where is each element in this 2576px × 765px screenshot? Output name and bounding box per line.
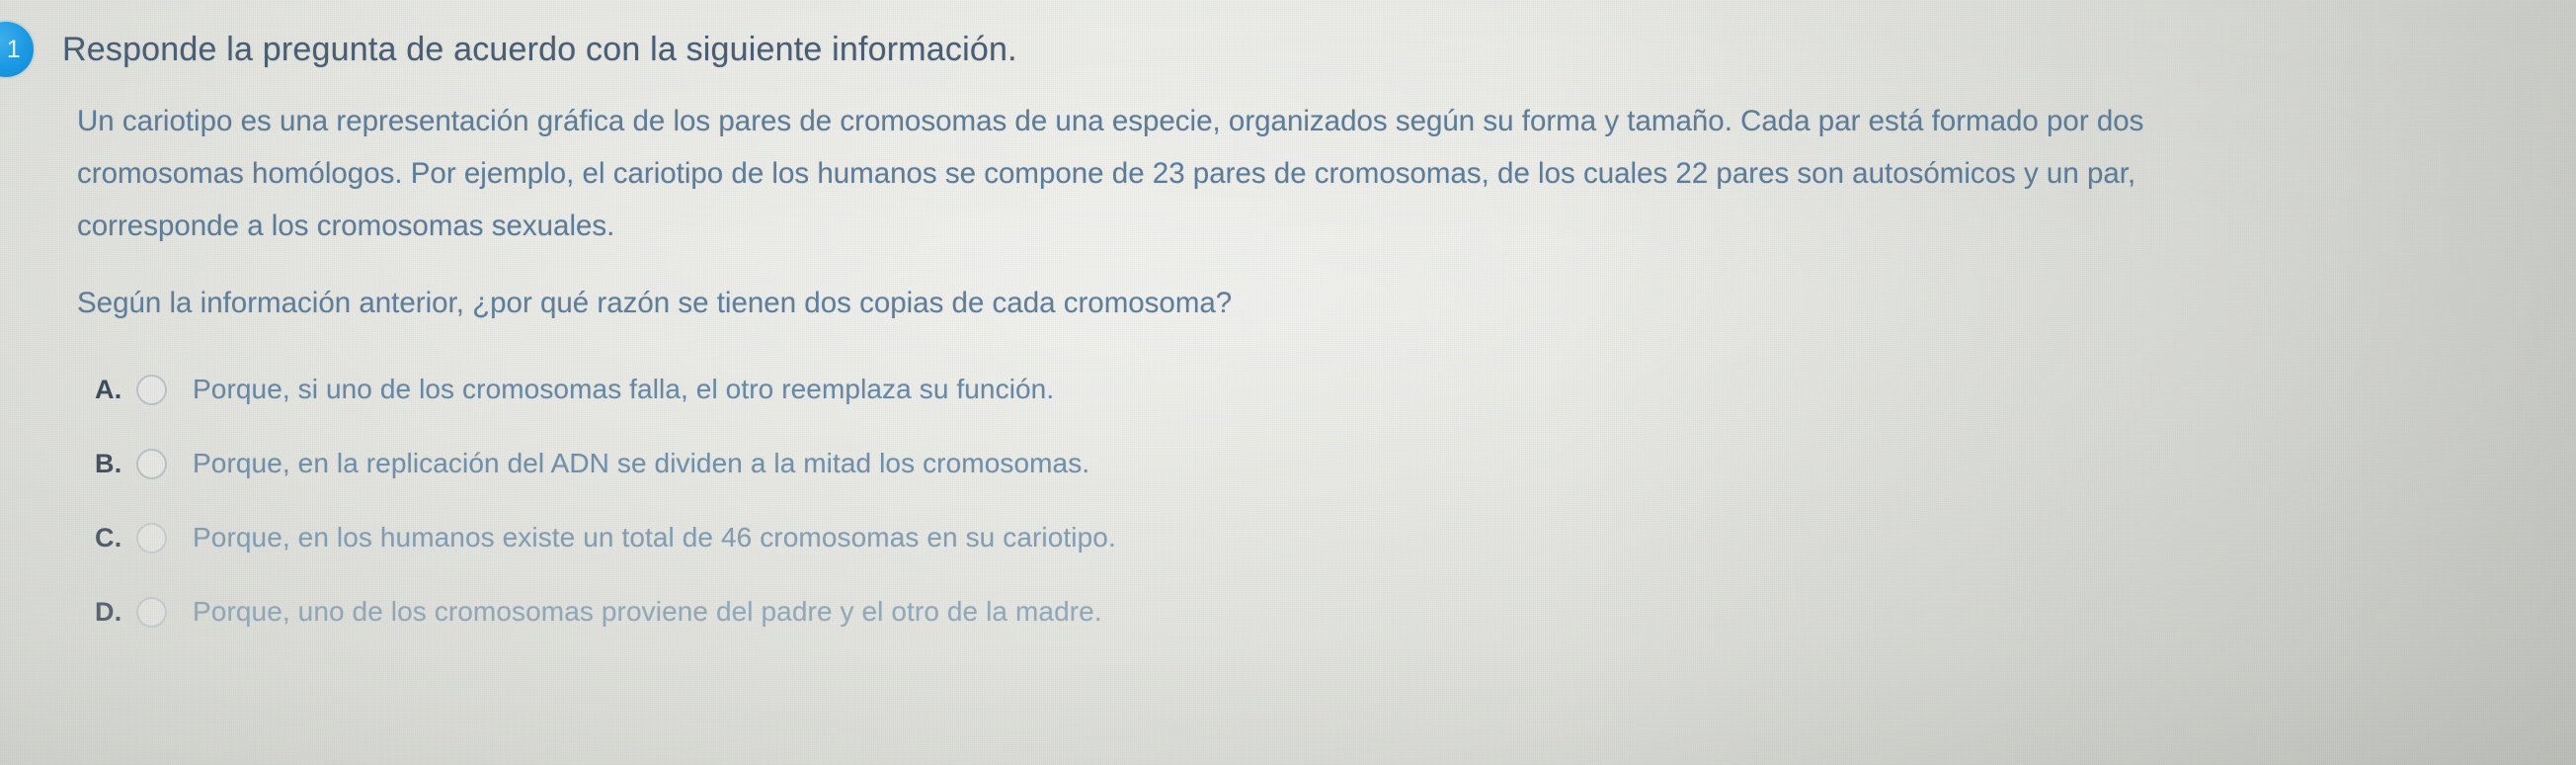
- passage-line-3: corresponde a los cromosomas sexuales.: [77, 200, 2507, 252]
- question-number-badge: 1: [0, 22, 34, 77]
- option-a-letter: A.: [95, 375, 136, 405]
- quiz-page: 1 Responde la pregunta de acuerdo con la…: [0, 0, 2576, 765]
- option-c-radio[interactable]: [136, 523, 167, 553]
- answer-options: A. Porque, si uno de los cromosomas fall…: [95, 371, 2465, 667]
- option-d[interactable]: D. Porque, uno de los cromosomas provien…: [95, 593, 2465, 631]
- question-prompt: Según la información anterior, ¿por qué …: [77, 282, 1232, 325]
- question-header: 1 Responde la pregunta de acuerdo con la…: [0, 22, 2529, 77]
- option-c[interactable]: C. Porque, en los humanos existe un tota…: [95, 519, 2465, 556]
- passage-line-2: cromosomas homólogos. Por ejemplo, el ca…: [77, 147, 2507, 200]
- option-a-label[interactable]: Porque, si uno de los cromosomas falla, …: [193, 374, 2465, 405]
- question-number-label: 1: [7, 36, 21, 63]
- quiz-content: 1 Responde la pregunta de acuerdo con la…: [0, 0, 2576, 765]
- option-b-letter: B.: [95, 449, 136, 479]
- option-b-radio[interactable]: [136, 449, 167, 479]
- option-b[interactable]: B. Porque, en la replicación del ADN se …: [95, 445, 2465, 482]
- passage-line-1: Un cariotipo es una representación gráfi…: [77, 95, 2507, 147]
- instruction-text: Responde la pregunta de acuerdo con la s…: [62, 31, 1017, 69]
- option-c-letter: C.: [95, 523, 136, 553]
- option-a[interactable]: A. Porque, si uno de los cromosomas fall…: [95, 371, 2465, 408]
- option-c-label[interactable]: Porque, en los humanos existe un total d…: [193, 522, 2465, 553]
- option-d-letter: D.: [95, 597, 136, 628]
- passage-text: Un cariotipo es una representación gráfi…: [77, 95, 2507, 252]
- option-d-label[interactable]: Porque, uno de los cromosomas proviene d…: [193, 596, 2465, 628]
- option-a-radio[interactable]: [136, 375, 167, 405]
- option-d-radio[interactable]: [136, 597, 167, 628]
- option-b-label[interactable]: Porque, en la replicación del ADN se div…: [193, 448, 2465, 479]
